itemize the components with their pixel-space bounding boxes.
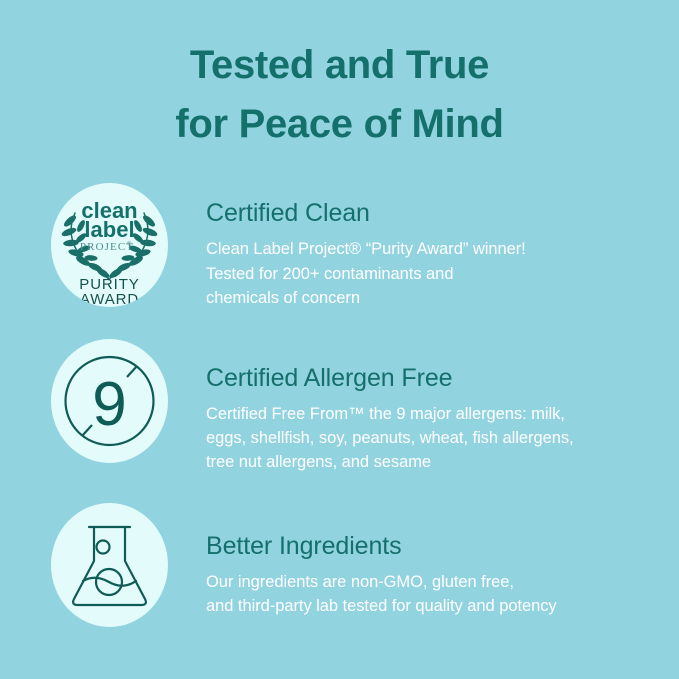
feature-title: Certified Clean	[206, 198, 526, 228]
page-headline: Tested and True for Peace of Mind	[0, 0, 679, 154]
badge-line-label: label	[84, 217, 134, 242]
badge-registered-mark: ®	[127, 241, 132, 248]
allergen-count-number: 9	[92, 370, 126, 439]
clean-label-badge-graphic: clean label PROJECT ® PURITY AWARD	[51, 183, 168, 307]
feature-list: clean label PROJECT ® PURITY AWARD Certi…	[0, 182, 679, 627]
feature-item-better-ingredients: Better Ingredients Our ingredients are n…	[0, 503, 679, 628]
feature-text-column: Certified Allergen Free Certified Free F…	[172, 339, 574, 475]
feature-icon-wrapper: clean label PROJECT ® PURITY AWARD	[47, 182, 172, 307]
feature-body: Certified Free From™ the 9 major allerge…	[206, 402, 574, 475]
feature-item-certified-clean: clean label PROJECT ® PURITY AWARD Certi…	[0, 182, 679, 310]
badge-line-project: PROJECT	[80, 241, 134, 253]
feature-text-column: Better Ingredients Our ingredients are n…	[172, 503, 557, 619]
allergen-free-circle-graphic: 9	[51, 339, 168, 463]
nine-allergen-free-circle-icon: 9	[51, 339, 168, 463]
feature-icon-wrapper: 9	[47, 339, 172, 464]
badge-award-line-2: AWARD	[80, 291, 139, 307]
feature-item-certified-allergen-free: 9 Certified Allergen Free Certified Free…	[0, 339, 679, 475]
feature-title: Better Ingredients	[206, 531, 557, 561]
clean-label-project-purity-award-badge: clean label PROJECT ® PURITY AWARD	[51, 183, 168, 307]
feature-body: Clean Label Project® “Purity Award” winn…	[206, 237, 526, 310]
feature-text-column: Certified Clean Clean Label Project® “Pu…	[172, 182, 526, 310]
feature-title: Certified Allergen Free	[206, 363, 574, 393]
feature-icon-wrapper	[47, 503, 172, 628]
feature-body: Our ingredients are non-GMO, gluten free…	[206, 570, 557, 619]
feature-callout-panel: Tested and True for Peace of Mind	[0, 0, 679, 679]
flask-graphic	[51, 503, 168, 627]
erlenmeyer-flask-icon	[51, 503, 168, 627]
